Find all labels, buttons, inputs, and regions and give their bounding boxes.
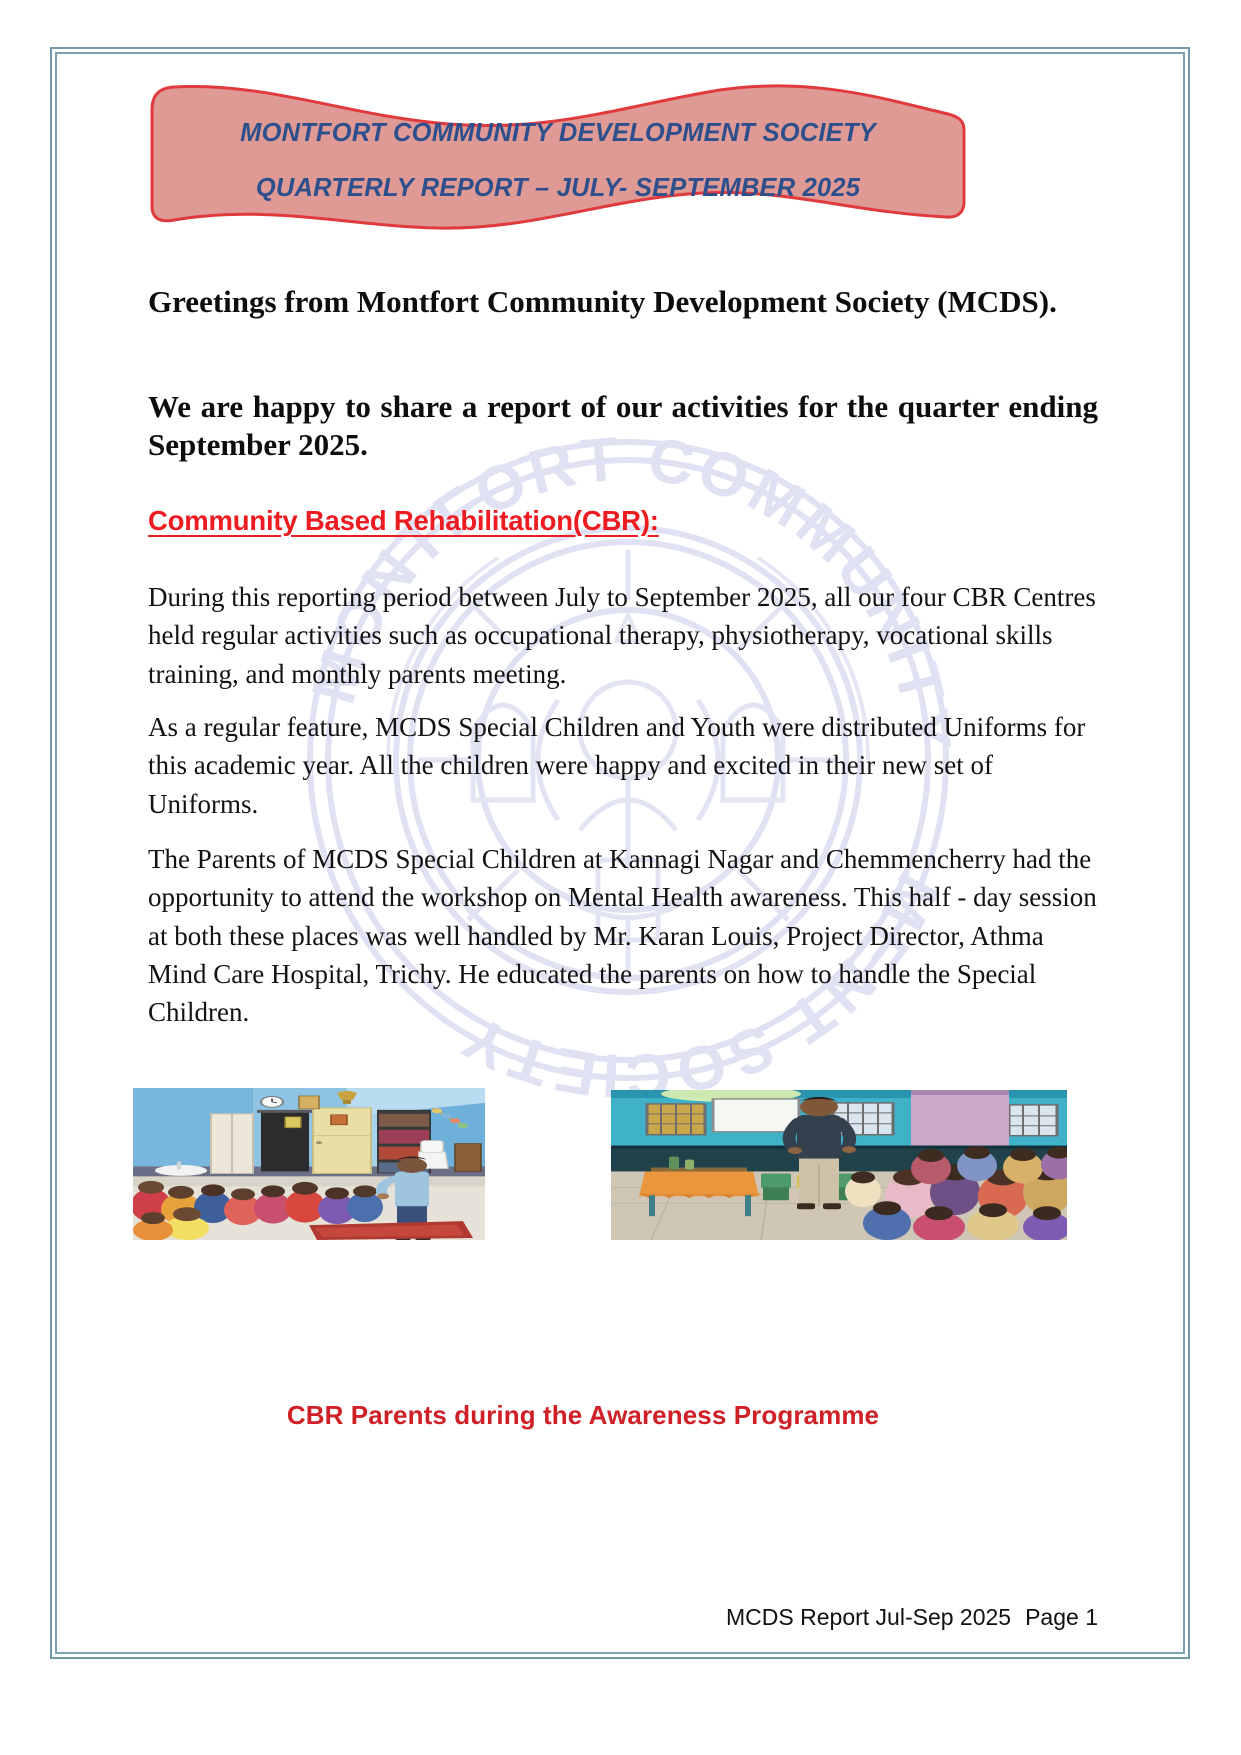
- intro-paragraph-1-wrap: Greetings from Montfort Community Develo…: [148, 283, 1098, 321]
- cbr-paragraph-2: As a regular feature, MCDS Special Child…: [148, 708, 1098, 823]
- cbr-paragraph-3: The Parents of MCDS Special Children at …: [148, 840, 1098, 1032]
- cbr-section-heading: Community Based Rehabilitation(CBR):: [148, 505, 1098, 537]
- intro-paragraph-2: We are happy to share a report of our ac…: [148, 388, 1098, 465]
- cbr-section-heading-wrap: Community Based Rehabilitation(CBR):: [148, 505, 1098, 537]
- photo-caption-wrap: CBR Parents during the Awareness Program…: [148, 1400, 1098, 1431]
- intro-paragraph-1: Greetings from Montfort Community Develo…: [148, 283, 1098, 321]
- document-page: MONTFORT COMMUNITY DEVELOP MENT SOCIETY: [0, 0, 1241, 1755]
- footer-document-label: MCDS Report Jul-Sep 2025: [726, 1604, 1011, 1630]
- cbr-paragraph-1: During this reporting period between Jul…: [148, 578, 1098, 693]
- photo-row: [133, 1088, 1068, 1240]
- report-title-banner: MONTFORT COMMUNITY DEVELOPMENT SOCIETY Q…: [148, 78, 968, 236]
- intro-paragraph-2-wrap: We are happy to share a report of our ac…: [148, 388, 1098, 465]
- footer-page-label: Page 1: [1025, 1604, 1098, 1630]
- photo-caption: CBR Parents during the Awareness Program…: [287, 1400, 879, 1431]
- cbr-paragraph-2-wrap: As a regular feature, MCDS Special Child…: [148, 708, 1098, 823]
- cbr-paragraph-1-wrap: During this reporting period between Jul…: [148, 578, 1098, 693]
- banner-title-line1: MONTFORT COMMUNITY DEVELOPMENT SOCIETY: [240, 119, 876, 148]
- cbr-paragraph-3-wrap: The Parents of MCDS Special Children at …: [148, 840, 1098, 1032]
- photo-cbr-awareness-hall: [611, 1090, 1067, 1240]
- photo-cbr-parents-classroom: [133, 1088, 485, 1240]
- banner-title-line2: QUARTERLY REPORT – JULY- SEPTEMBER 2025: [256, 174, 860, 203]
- page-footer: MCDS Report Jul-Sep 2025Page 1: [148, 1604, 1098, 1631]
